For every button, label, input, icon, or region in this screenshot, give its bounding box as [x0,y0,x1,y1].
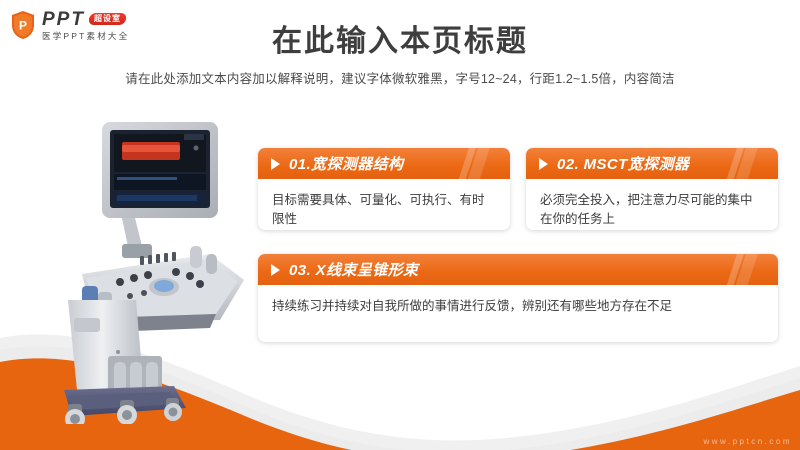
content-card-2[interactable]: 02. MSCT宽探测器 必须完全投入，把注意力尽可能的集中在你的任务上 [526,148,778,230]
card-1-header: 01.宽探测器结构 [258,148,510,179]
content-card-1[interactable]: 01.宽探测器结构 目标需要具体、可量化、可执行、有时限性 [258,148,510,230]
play-triangle-icon [271,158,280,170]
card-3-title: 03. X线束呈锥形束 [289,259,418,280]
play-triangle-icon [539,158,548,170]
card-2-title: 02. MSCT宽探测器 [557,153,689,174]
play-triangle-icon [271,264,280,276]
page-title: 在此输入本页标题 [0,16,800,60]
footer-watermark: www.pptcn.com [703,437,792,446]
card-3-body: 持续练习并持续对自我所做的事情进行反馈，辨别还有哪些地方存在不足 [258,285,778,330]
card-2-header: 02. MSCT宽探测器 [526,148,778,179]
card-3-header: 03. X线束呈锥形束 [258,254,778,285]
content-card-3[interactable]: 03. X线束呈锥形束 持续练习并持续对自我所做的事情进行反馈，辨别还有哪些地方… [258,254,778,342]
page-subtitle: 请在此处添加文本内容加以解释说明，建议字体微软雅黑，字号12~24，行距1.2~… [0,68,800,87]
card-2-body: 必须完全投入，把注意力尽可能的集中在你的任务上 [526,179,778,230]
ultrasound-machine-image [24,104,259,424]
slide-canvas: P PPT 超设室 医学PPT素材大全 在此输入本页标题 请在此处添加文本内容加… [0,0,800,450]
card-1-body: 目标需要具体、可量化、可执行、有时限性 [258,179,510,230]
card-1-title: 01.宽探测器结构 [289,153,403,174]
